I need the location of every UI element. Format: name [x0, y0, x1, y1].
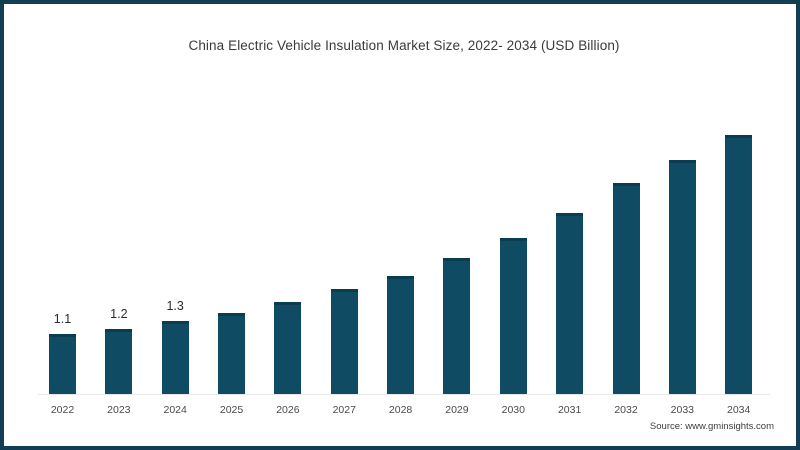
bar-2023[interactable] — [105, 329, 132, 394]
x-tick-2029: 2029 — [427, 404, 487, 416]
bar-2031[interactable] — [556, 213, 583, 394]
x-tick-2028: 2028 — [371, 404, 431, 416]
x-tick-2026: 2026 — [258, 404, 318, 416]
bar-2027[interactable] — [331, 289, 358, 394]
bar-value-label-2024: 1.3 — [145, 299, 205, 313]
x-tick-2023: 2023 — [89, 404, 149, 416]
source-attribution: Source: www.gminsights.com — [650, 421, 774, 432]
x-tick-2032: 2032 — [596, 404, 656, 416]
bar-value-label-2022: 1.1 — [33, 312, 93, 326]
x-tick-2033: 2033 — [652, 404, 712, 416]
bar-2034[interactable] — [725, 135, 752, 394]
bar-2030[interactable] — [500, 238, 527, 394]
bar-value-label-2023: 1.2 — [89, 307, 149, 321]
bar-2026[interactable] — [274, 302, 301, 394]
x-tick-2024: 2024 — [145, 404, 205, 416]
x-tick-2022: 2022 — [33, 404, 93, 416]
bar-2032[interactable] — [613, 183, 640, 394]
x-tick-2034: 2034 — [709, 404, 769, 416]
x-tick-2030: 2030 — [483, 404, 543, 416]
bar-2029[interactable] — [443, 258, 470, 394]
bar-2024[interactable] — [162, 321, 189, 394]
x-tick-2027: 2027 — [314, 404, 374, 416]
x-tick-2025: 2025 — [202, 404, 262, 416]
bar-2033[interactable] — [669, 160, 696, 394]
chart-card: China Electric Vehicle Insulation Market… — [0, 0, 800, 450]
x-axis-line — [38, 394, 770, 395]
bar-2028[interactable] — [387, 276, 414, 394]
bar-2022[interactable] — [49, 334, 76, 394]
bar-2025[interactable] — [218, 313, 245, 394]
bar-chart-plot-area: 1.120221.220231.320242025202620272028202… — [4, 4, 800, 450]
x-tick-2031: 2031 — [540, 404, 600, 416]
